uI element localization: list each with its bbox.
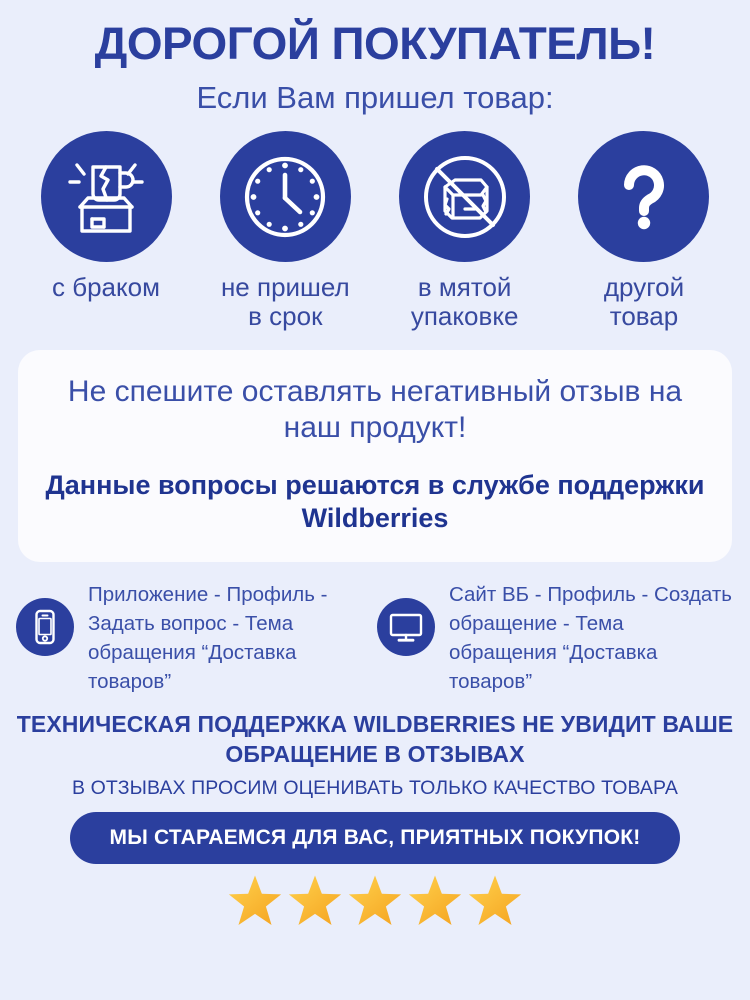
- problem-item-defect: с браком: [20, 131, 192, 302]
- footer: ТЕХНИЧЕСКАЯ ПОДДЕРЖКА WILDBERRIES НЕ УВИ…: [0, 696, 750, 930]
- problem-label-crumpled: в мятойупаковке: [411, 273, 519, 331]
- star-rating: [12, 872, 738, 930]
- notice-card: Не спешите оставлять негативный отзыв на…: [18, 350, 732, 562]
- page-subtitle: Если Вам пришел товар:: [0, 81, 750, 115]
- star-icon: [346, 872, 404, 930]
- instructions-row: Приложение - Профиль - Задать вопрос - Т…: [0, 562, 750, 696]
- instruction-app-text: Приложение - Профиль - Задать вопрос - Т…: [88, 580, 373, 696]
- instruction-website-text: Сайт ВБ - Профиль - Создать обращение - …: [449, 580, 734, 696]
- problem-icon-row: с браком: [0, 115, 750, 331]
- page-title: ДОРОГОЙ ПОКУПАТЕЛЬ!: [0, 20, 750, 67]
- problem-label-wrong: другойтовар: [604, 273, 684, 331]
- notice-secondary-text: Данные вопросы решаются в службе поддерж…: [44, 469, 706, 536]
- header: ДОРОГОЙ ПОКУПАТЕЛЬ! Если Вам пришел това…: [0, 0, 750, 115]
- problem-label-late: не пришелв срок: [221, 273, 350, 331]
- smartphone-icon: [16, 598, 74, 656]
- problem-label-defect: с браком: [52, 273, 160, 302]
- no-crumpled-package-icon: [399, 131, 530, 262]
- clock-icon: [220, 131, 351, 262]
- cta-wrapper: МЫ СТАРАЕМСЯ ДЛЯ ВАС, ПРИЯТНЫХ ПОКУПОК!: [12, 812, 738, 864]
- problem-item-late: не пришелв срок: [199, 131, 371, 331]
- instruction-app: Приложение - Профиль - Задать вопрос - Т…: [16, 580, 373, 696]
- instruction-website: Сайт ВБ - Профиль - Создать обращение - …: [377, 580, 734, 696]
- star-icon: [406, 872, 464, 930]
- star-icon: [286, 872, 344, 930]
- footer-subtext: В ОТЗЫВАХ ПРОСИМ ОЦЕНИВАТЬ ТОЛЬКО КАЧЕСТ…: [12, 777, 738, 800]
- question-mark-icon: [578, 131, 709, 262]
- desktop-monitor-icon: [377, 598, 435, 656]
- problem-item-crumpled: в мятойупаковке: [379, 131, 551, 331]
- star-icon: [226, 872, 284, 930]
- broken-cup-in-box-icon: [41, 131, 172, 262]
- notice-primary-text: Не спешите оставлять негативный отзыв на…: [44, 374, 706, 447]
- star-icon: [466, 872, 524, 930]
- footer-warning: ТЕХНИЧЕСКАЯ ПОДДЕРЖКА WILDBERRIES НЕ УВИ…: [12, 710, 738, 769]
- problem-item-wrong: другойтовар: [558, 131, 730, 331]
- cta-button[interactable]: МЫ СТАРАЕМСЯ ДЛЯ ВАС, ПРИЯТНЫХ ПОКУПОК!: [70, 812, 680, 864]
